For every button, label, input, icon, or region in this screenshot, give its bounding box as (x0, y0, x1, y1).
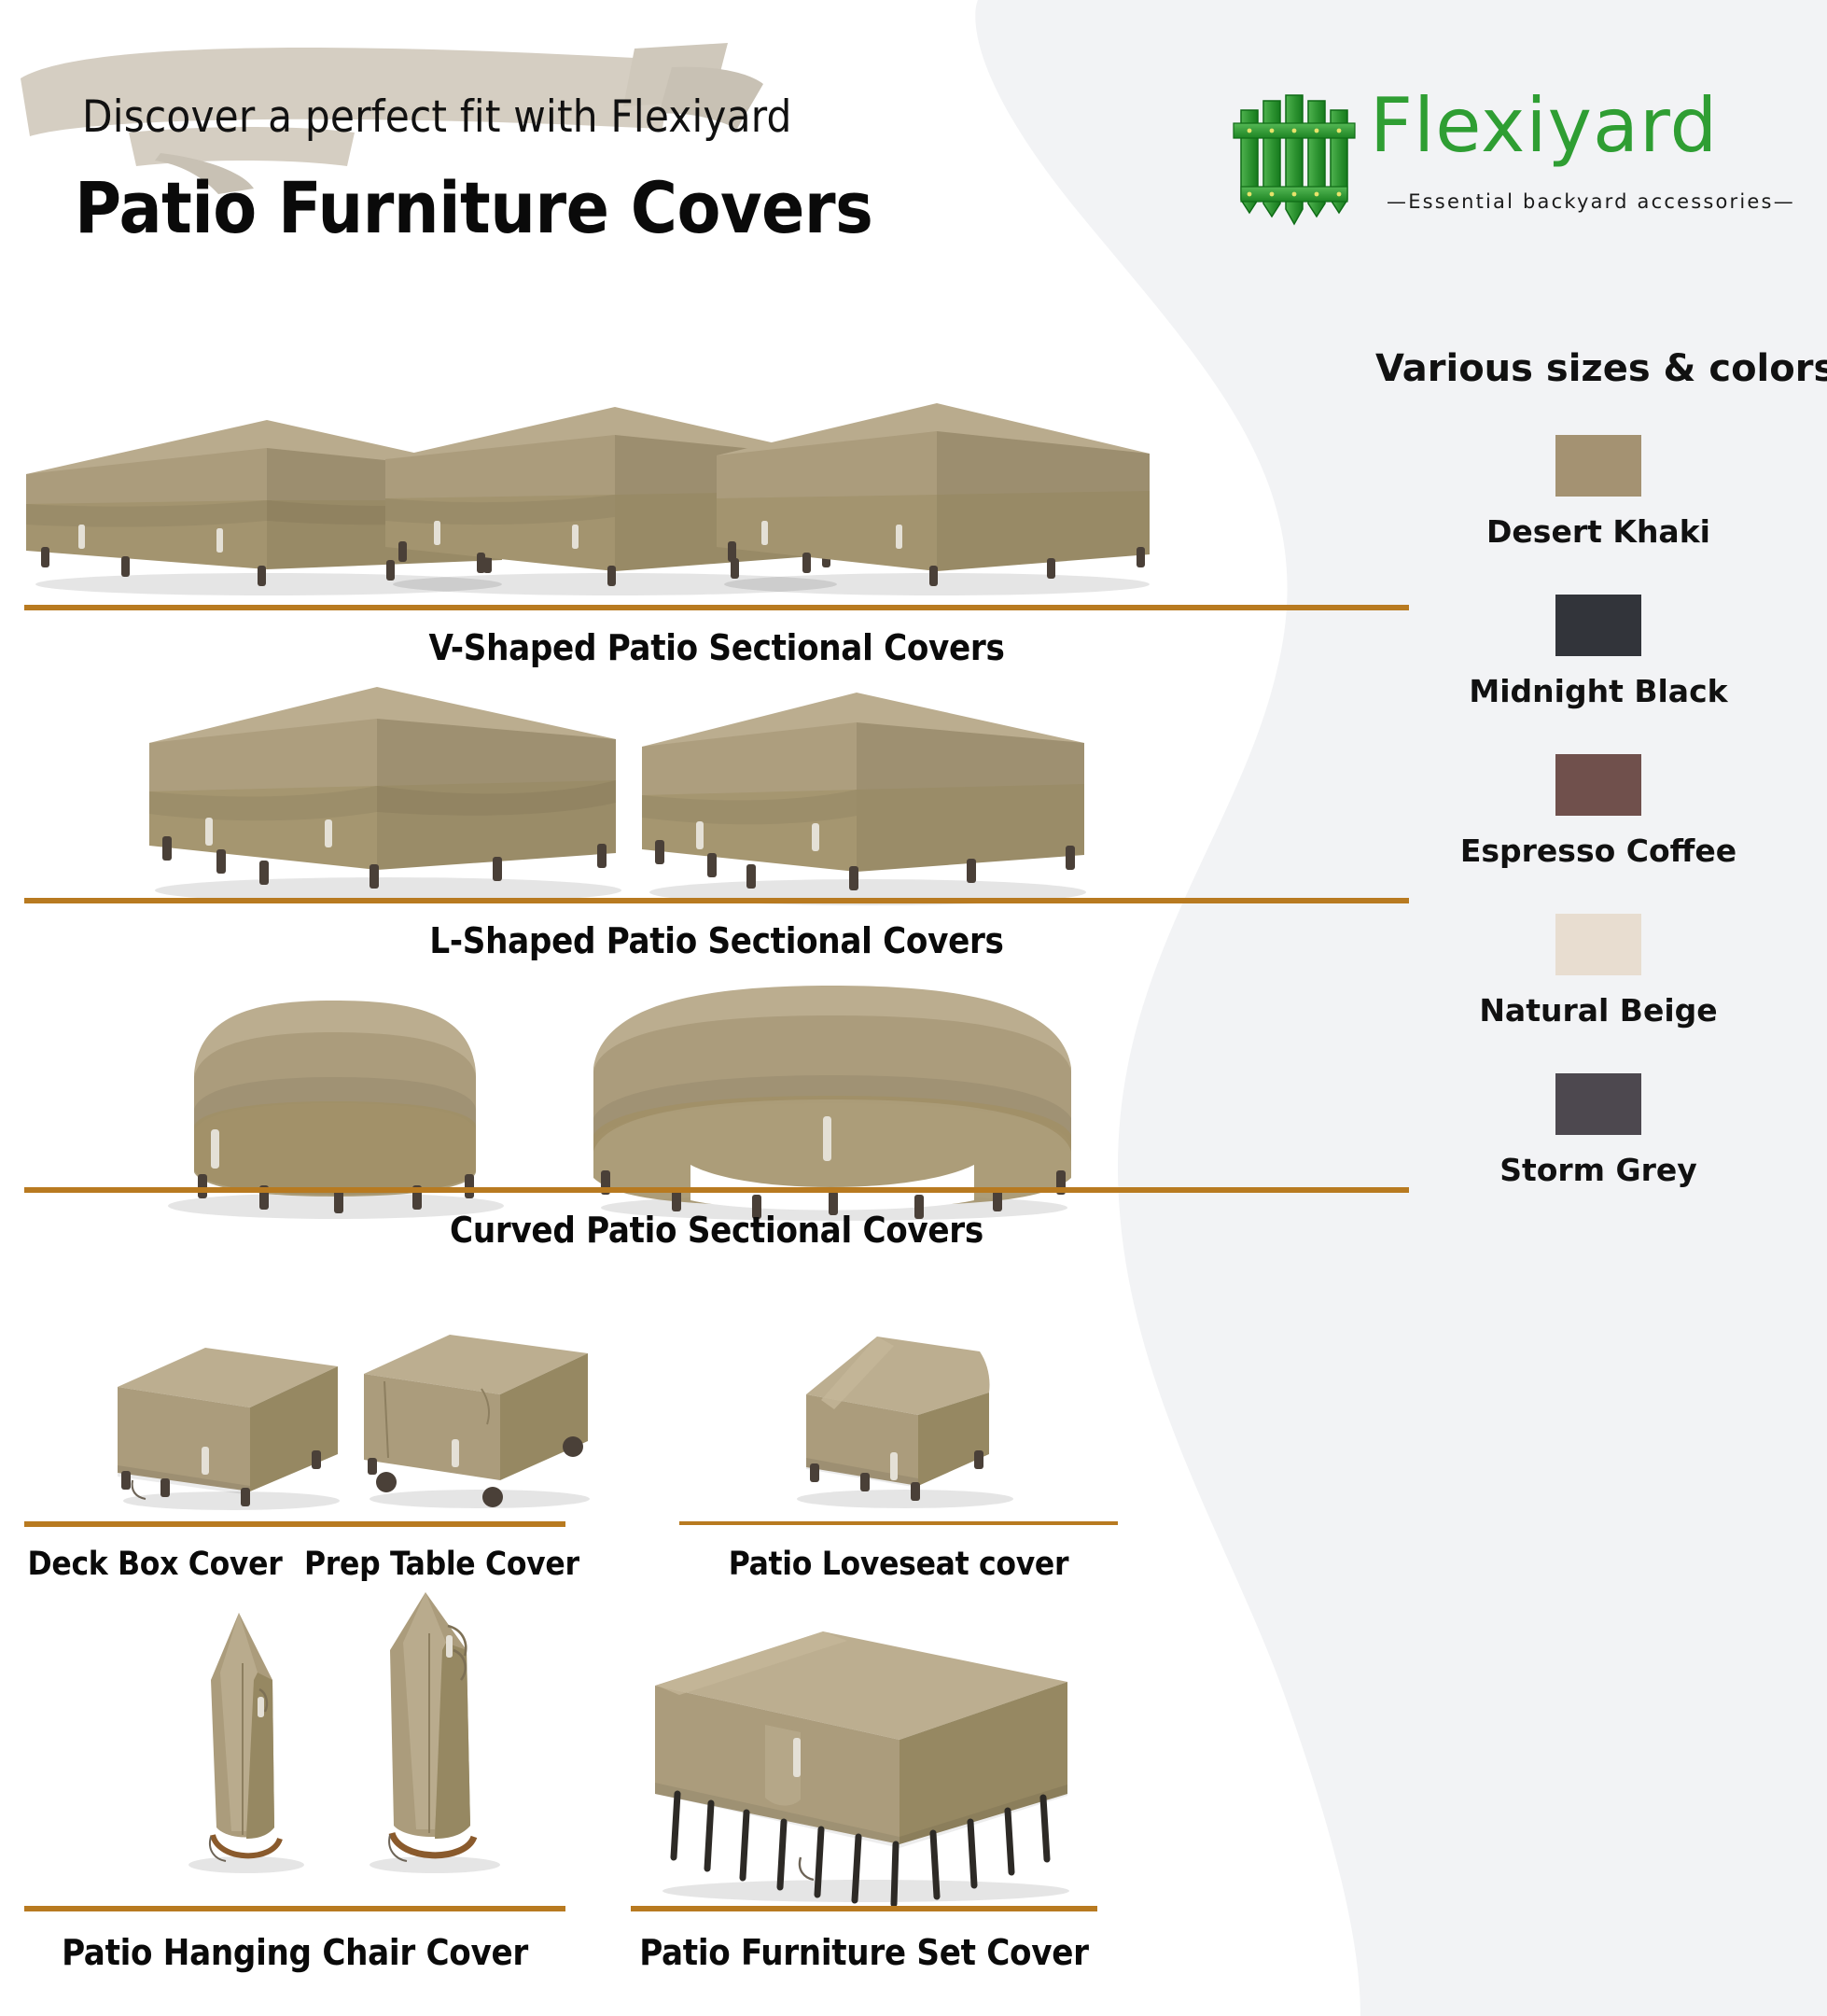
swatch-desert-khaki[interactable]: Desert Khaki (1375, 435, 1821, 550)
category-label-prep-table: Prep Table Cover (304, 1546, 565, 1583)
swatch-chip (1555, 435, 1641, 497)
ribbon-text: Discover a perfect fit with Flexiyard (82, 91, 1015, 143)
swatch-label: Natural Beige (1375, 992, 1821, 1029)
divider-deckbox-preptable (24, 1521, 565, 1527)
swatch-label: Desert Khaki (1375, 513, 1821, 550)
swatch-label: Midnight Black (1375, 673, 1821, 709)
category-label-curved: Curved Patio Sectional Covers (24, 1210, 1409, 1251)
cover-deck-box[interactable] (105, 1335, 347, 1512)
swatch-label: Espresso Coffee (1375, 833, 1821, 869)
divider-row-2 (24, 898, 1409, 903)
cover-patio-furniture-set[interactable] (636, 1624, 1084, 1904)
divider-hanging-chair (24, 1906, 565, 1911)
colors-panel: Various sizes & colors: Desert Khaki Mid… (1375, 347, 1821, 1188)
swatch-chip (1555, 1073, 1641, 1135)
cover-hanging-chair-2[interactable] (349, 1589, 517, 1878)
brand-logo: Flexiyard —Essential backyard accessorie… (1230, 90, 1808, 239)
fence-icon (1230, 90, 1360, 239)
cover-l-shaped-1[interactable] (140, 681, 625, 905)
category-label-l-shaped: L-Shaped Patio Sectional Covers (24, 920, 1409, 961)
cover-v-shaped-3[interactable] (709, 399, 1157, 597)
swatch-natural-beige[interactable]: Natural Beige (1375, 914, 1821, 1029)
cover-prep-table[interactable] (351, 1325, 597, 1512)
swatch-chip (1555, 595, 1641, 656)
divider-row-3 (24, 1187, 1409, 1193)
swatch-chip (1555, 754, 1641, 816)
brand-name: Flexiyard (1370, 82, 1718, 169)
cover-curved-2[interactable] (579, 978, 1082, 1223)
divider-loveseat (679, 1521, 1118, 1525)
cover-hanging-chair-1[interactable] (170, 1607, 319, 1878)
colors-panel-title: Various sizes & colors: (1375, 347, 1821, 390)
category-label-hanging-chair: Patio Hanging Chair Cover (24, 1932, 565, 1973)
swatch-storm-grey[interactable]: Storm Grey (1375, 1073, 1821, 1188)
divider-row-1 (24, 605, 1409, 610)
divider-furniture-set (631, 1906, 1097, 1911)
category-label-patio-loveseat: Patio Loveseat cover (679, 1546, 1118, 1583)
swatch-label: Storm Grey (1375, 1152, 1821, 1188)
swatch-espresso-coffee[interactable]: Espresso Coffee (1375, 754, 1821, 869)
cover-l-shaped-2[interactable] (635, 689, 1092, 907)
category-label-v-shaped: V-Shaped Patio Sectional Covers (24, 627, 1409, 668)
brand-tagline: —Essential backyard accessories— (1387, 190, 1795, 213)
header: Discover a perfect fit with Flexiyard Pa… (0, 0, 1166, 280)
page-title: Patio Furniture Covers (75, 166, 1157, 249)
swatch-midnight-black[interactable]: Midnight Black (1375, 595, 1821, 709)
category-label-furniture-set: Patio Furniture Set Cover (631, 1932, 1097, 1973)
category-label-deck-box: Deck Box Cover (24, 1546, 286, 1583)
cover-patio-loveseat[interactable] (780, 1325, 1019, 1512)
cover-curved-1[interactable] (140, 987, 513, 1221)
swatch-chip (1555, 914, 1641, 975)
